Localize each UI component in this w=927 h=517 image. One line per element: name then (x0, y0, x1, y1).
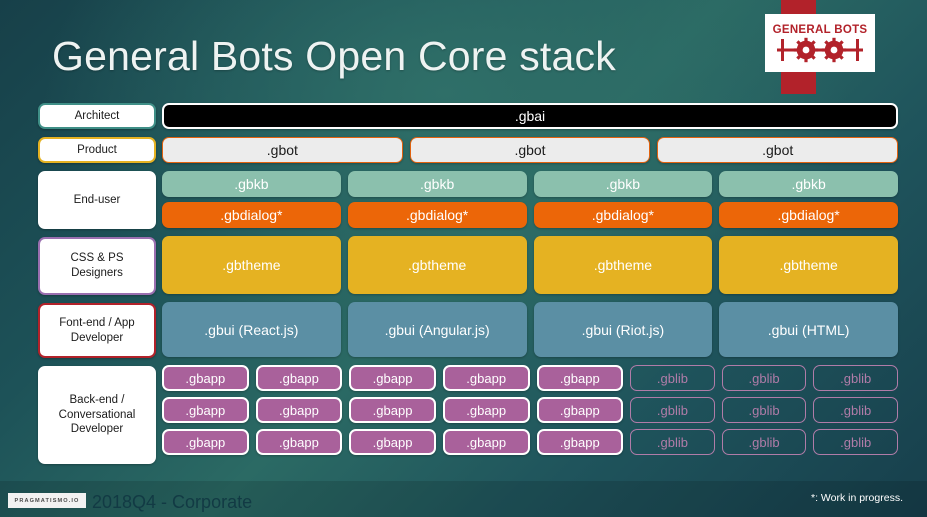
stack-cell-label: .gbapp (279, 435, 319, 450)
gbdialog-row: .gbdialog*.gbdialog*.gbdialog*.gbdialog* (162, 202, 898, 228)
stack-cell-gbkb[interactable]: .gbkb (719, 171, 898, 197)
stack-cell-label: .gbdialog* (592, 207, 654, 223)
stack-cell-gbtheme[interactable]: .gbtheme (534, 236, 713, 294)
role-label-text: Architect (75, 109, 120, 124)
stack-cell-gbot[interactable]: .gbot (410, 137, 651, 163)
stack-cell-gbapp[interactable]: .gbapp (537, 429, 624, 455)
stack-cell-label: .gbapp (373, 403, 413, 418)
role-label-3: CSS & PS Designers (38, 237, 156, 295)
stack-cell-label: .gbapp (466, 371, 506, 386)
gbui-row: .gbui (React.js).gbui (Angular.js).gbui … (162, 302, 898, 357)
stack-cell-label: .gbot (514, 142, 545, 158)
stack-cell-label: .gbot (267, 142, 298, 158)
stack-cell-label: .gbapp (279, 403, 319, 418)
stack-cell-label: .gblib (657, 371, 688, 386)
work-in-progress-note: *: Work in progress. (811, 492, 903, 504)
stack-cell-gbapp[interactable]: .gbapp (162, 397, 249, 423)
stack-cell-gblib[interactable]: .gblib (722, 397, 807, 423)
stack-cell-label: .gbtheme (594, 257, 652, 273)
stack-cell-gbapp[interactable]: .gbapp (349, 365, 436, 391)
stack-cell-gbapp[interactable]: .gbapp (162, 365, 249, 391)
stack-cell-gbapp[interactable]: .gbapp (537, 365, 624, 391)
stack-cell-gbot[interactable]: .gbot (657, 137, 898, 163)
modules-row-3: .gbapp.gbapp.gbapp.gbapp.gbapp.gblib.gbl… (162, 429, 898, 455)
stack-cell-label: .gblib (840, 435, 871, 450)
role-label-0: Architect (38, 103, 156, 129)
stack-cell-gblib[interactable]: .gblib (722, 365, 807, 391)
stack-cell-gbapp[interactable]: .gbapp (162, 429, 249, 455)
stack-diagram: .gbai.gbot.gbot.gbot.gbkb.gbkb.gbkb.gbkb… (162, 103, 898, 455)
stack-cell-label: .gbkb (420, 176, 454, 192)
role-label-5: Back-end / Conversational Developer (38, 366, 156, 464)
stack-cell-gbapp[interactable]: .gbapp (349, 397, 436, 423)
gbtheme-row: .gbtheme.gbtheme.gbtheme.gbtheme (162, 236, 898, 294)
gbai-row: .gbai (162, 103, 898, 129)
stack-cell-gblib[interactable]: .gblib (813, 365, 898, 391)
stack-cell-label: .gbapp (185, 435, 225, 450)
stack-cell-gbkb[interactable]: .gbkb (534, 171, 713, 197)
role-label-column: ArchitectProductEnd-userCSS & PS Designe… (38, 103, 156, 464)
footer-note: 2018Q4 - Corporate (92, 492, 252, 513)
modules-row-2: .gbapp.gbapp.gbapp.gbapp.gbapp.gblib.gbl… (162, 397, 898, 423)
general-bots-logo-text: GENERAL BOTS (773, 24, 868, 36)
stack-cell-gblib[interactable]: .gblib (630, 429, 715, 455)
stack-cell-gblib[interactable]: .gblib (813, 429, 898, 455)
stack-cell-label: .gbtheme (222, 257, 280, 273)
stack-cell-label: .gblib (657, 403, 688, 418)
stack-cell-gbai[interactable]: .gbai (162, 103, 898, 129)
stack-cell-label: .gbot (762, 142, 793, 158)
stack-cell-gbapp[interactable]: .gbapp (256, 365, 343, 391)
stack-cell-label: .gbapp (560, 435, 600, 450)
page-title: General Bots Open Core stack (52, 33, 616, 80)
stack-cell-gbapp[interactable]: .gbapp (349, 429, 436, 455)
role-label-text: Back-end / Conversational Developer (59, 393, 136, 437)
stack-cell-label: .gbtheme (779, 257, 837, 273)
stack-cell-label: .gbapp (373, 435, 413, 450)
stack-cell-gbot[interactable]: .gbot (162, 137, 403, 163)
stack-cell-label: .gbtheme (408, 257, 466, 273)
stack-cell-gbapp[interactable]: .gbapp (256, 429, 343, 455)
stack-cell-label: .gbapp (373, 371, 413, 386)
stack-cell-gblib[interactable]: .gblib (813, 397, 898, 423)
stack-cell-label: .gblib (840, 371, 871, 386)
stack-cell-label: .gbapp (466, 435, 506, 450)
gbkb-row: .gbkb.gbkb.gbkb.gbkb (162, 171, 898, 197)
modules-row-1: .gbapp.gbapp.gbapp.gbapp.gbapp.gblib.gbl… (162, 365, 898, 391)
stack-cell-label: .gbkb (606, 176, 640, 192)
stack-cell-label: .gbdialog* (777, 207, 839, 223)
stack-cell-gbdialog[interactable]: .gbdialog* (162, 202, 341, 228)
stack-cell-gbui-html[interactable]: .gbui (HTML) (719, 302, 898, 357)
role-label-text: Product (77, 143, 117, 158)
two-gears-with-bars-icon (777, 37, 863, 63)
stack-cell-gbkb[interactable]: .gbkb (162, 171, 341, 197)
stack-cell-gbdialog[interactable]: .gbdialog* (348, 202, 527, 228)
stack-cell-gblib[interactable]: .gblib (630, 365, 715, 391)
gbot-row: .gbot.gbot.gbot (162, 137, 898, 163)
stack-cell-label: .gbapp (560, 403, 600, 418)
stack-cell-label: .gbui (HTML) (768, 322, 850, 338)
stack-cell-gbtheme[interactable]: .gbtheme (162, 236, 341, 294)
role-label-4: Font-end / App Developer (38, 303, 156, 358)
stack-cell-label: .gbkb (792, 176, 826, 192)
pragmatismo-logo-text: PRAGMATISMO.IO (14, 498, 79, 504)
stack-cell-gbui-angularjs[interactable]: .gbui (Angular.js) (348, 302, 527, 357)
stack-cell-gbdialog[interactable]: .gbdialog* (719, 202, 898, 228)
stack-cell-label: .gbdialog* (406, 207, 468, 223)
stack-cell-gbtheme[interactable]: .gbtheme (719, 236, 898, 294)
pragmatismo-logo: PRAGMATISMO.IO (8, 493, 86, 508)
stack-cell-label: .gbapp (185, 371, 225, 386)
stack-cell-label: .gbui (Angular.js) (385, 322, 490, 338)
stack-cell-label: .gbapp (560, 371, 600, 386)
stack-cell-gbkb[interactable]: .gbkb (348, 171, 527, 197)
stack-cell-gbui-riotjs[interactable]: .gbui (Riot.js) (534, 302, 713, 357)
stack-cell-label: .gbkb (234, 176, 268, 192)
stack-cell-gbui-reactjs[interactable]: .gbui (React.js) (162, 302, 341, 357)
stack-cell-label: .gbapp (185, 403, 225, 418)
stack-cell-label: .gblib (749, 371, 780, 386)
slide-canvas: GENERAL BOTS (0, 0, 927, 517)
stack-cell-label: .gblib (657, 435, 688, 450)
role-label-text: CSS & PS Designers (70, 251, 123, 280)
stack-cell-gblib[interactable]: .gblib (630, 397, 715, 423)
stack-cell-label: .gbui (Riot.js) (582, 322, 664, 338)
stack-cell-gbtheme[interactable]: .gbtheme (348, 236, 527, 294)
stack-cell-label: .gbapp (279, 371, 319, 386)
general-bots-logo: GENERAL BOTS (765, 14, 875, 72)
stack-cell-gblib[interactable]: .gblib (722, 429, 807, 455)
stack-cell-gbdialog[interactable]: .gbdialog* (534, 202, 713, 228)
role-label-2: End-user (38, 171, 156, 229)
stack-cell-label: .gblib (840, 403, 871, 418)
stack-cell-label: .gbui (React.js) (204, 322, 298, 338)
role-label-text: Font-end / App Developer (59, 316, 134, 345)
role-label-text: End-user (74, 193, 121, 208)
stack-cell-gbapp[interactable]: .gbapp (443, 397, 530, 423)
stack-cell-label: .gblib (749, 403, 780, 418)
stack-cell-gbapp[interactable]: .gbapp (443, 429, 530, 455)
stack-cell-label: .gbdialog* (220, 207, 282, 223)
stack-cell-gbapp[interactable]: .gbapp (443, 365, 530, 391)
stack-cell-gbapp[interactable]: .gbapp (256, 397, 343, 423)
stack-cell-label: .gbapp (466, 403, 506, 418)
stack-cell-label: .gbai (515, 108, 545, 124)
role-label-1: Product (38, 137, 156, 163)
stack-cell-gbapp[interactable]: .gbapp (537, 397, 624, 423)
stack-cell-label: .gblib (749, 435, 780, 450)
